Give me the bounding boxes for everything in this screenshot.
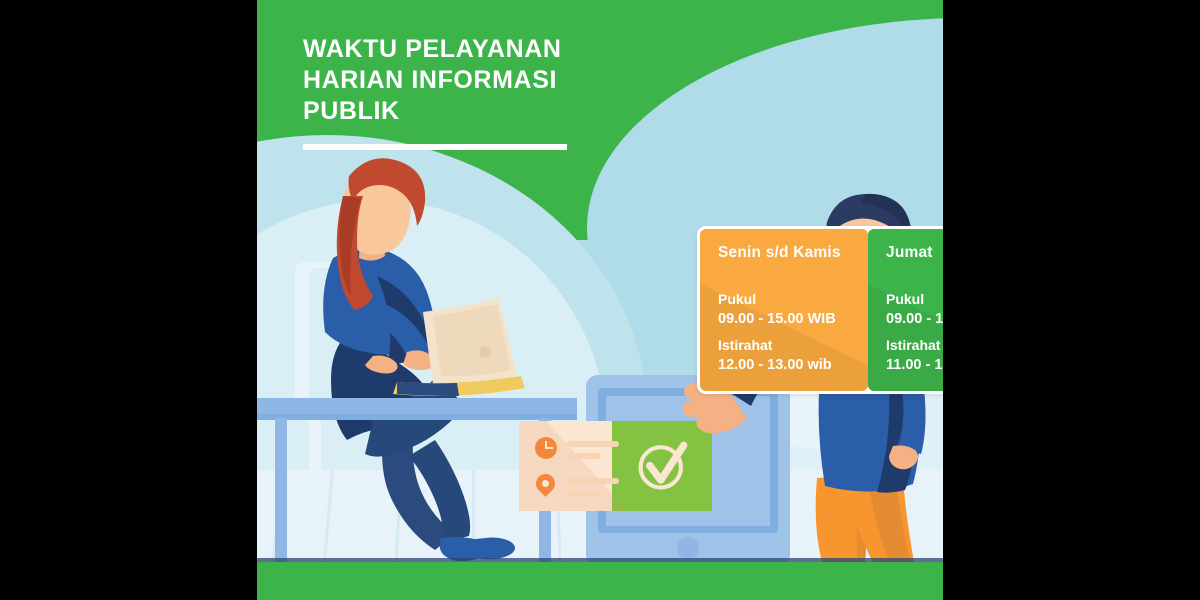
break-value: 11.00 - 13.00 wib bbox=[886, 355, 943, 375]
doc-text-line bbox=[567, 478, 619, 484]
poster-canvas: WAKTU PELAYANAN HARIAN INFORMASI PUBLIK … bbox=[257, 0, 943, 600]
clock-icon bbox=[535, 437, 557, 459]
doc-text-line bbox=[567, 441, 619, 447]
hours-value: 09.00 - 15.00 wib bbox=[886, 309, 943, 329]
title-line-3: PUBLIK bbox=[303, 97, 400, 125]
doc-text-line bbox=[567, 453, 601, 459]
poster-header: WAKTU PELAYANAN HARIAN INFORMASI PUBLIK bbox=[303, 34, 633, 150]
floor-streak bbox=[472, 470, 475, 562]
hours-label: Pukul bbox=[886, 290, 943, 309]
schedule-column-senin-kamis: Senin s/d Kamis Pukul 09.00 - 15.00 WIB … bbox=[700, 229, 868, 391]
green-floor-band bbox=[257, 562, 943, 600]
checkmark-icon bbox=[636, 438, 691, 493]
break-label: Istirahat bbox=[886, 336, 943, 355]
hours-label: Pukul bbox=[718, 290, 868, 309]
schedule-column-jumat: Jumat Pukul 09.00 - 15.00 wib Istirahat … bbox=[868, 229, 943, 391]
title-line-1: WAKTU PELAYANAN bbox=[303, 35, 562, 63]
schedule-card: Senin s/d Kamis Pukul 09.00 - 15.00 WIB … bbox=[697, 226, 943, 394]
break-value: 12.00 - 13.00 wib bbox=[718, 355, 868, 375]
break-label: Istirahat bbox=[718, 336, 868, 355]
schedule-day-label: Senin s/d Kamis bbox=[718, 244, 868, 262]
hours-value: 09.00 - 15.00 WIB bbox=[718, 309, 868, 329]
schedule-day-label: Jumat bbox=[886, 244, 943, 262]
page-title: WAKTU PELAYANAN HARIAN INFORMASI PUBLIK bbox=[303, 34, 633, 127]
title-line-2: HARIAN INFORMASI bbox=[303, 66, 557, 94]
tablet-home-button bbox=[677, 537, 699, 559]
doc-text-line bbox=[567, 490, 601, 496]
poster-stage: WAKTU PELAYANAN HARIAN INFORMASI PUBLIK … bbox=[0, 0, 1200, 600]
title-underline-rule bbox=[303, 144, 567, 150]
